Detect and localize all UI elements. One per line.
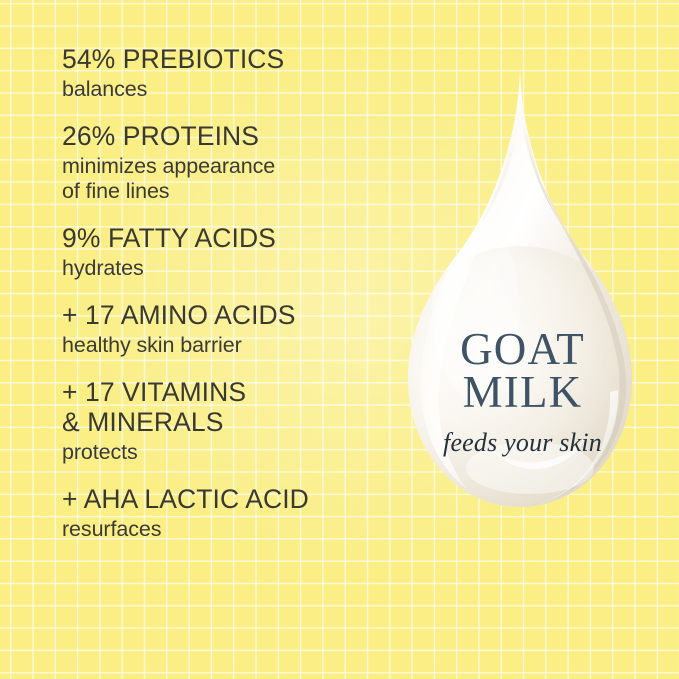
benefit-title: 26% PROTEINS [62,121,392,152]
benefits-list: 54% PREBIOTICS balances 26% PROTEINS min… [62,44,392,542]
milk-droplet: GOAT MILK feeds your skin [380,60,665,560]
benefit-subtitle: healthy skin barrier [62,333,392,358]
brand-line-2: MILK [380,371,665,414]
list-item: 26% PROTEINS minimizes appearance of fin… [62,121,392,204]
brand-tagline: feeds your skin [380,428,665,458]
list-item: 54% PREBIOTICS balances [62,44,392,102]
list-item: + 17 AMINO ACIDS healthy skin barrier [62,300,392,358]
list-item: + AHA LACTIC ACID resurfaces [62,484,392,542]
list-item: + 17 VITAMINS & MINERALS protects [62,377,392,466]
benefit-subtitle: hydrates [62,256,392,281]
benefit-subtitle: protects [62,440,392,465]
benefit-title: + 17 VITAMINS & MINERALS [62,377,392,438]
benefit-subtitle: minimizes appearance of fine lines [62,154,392,204]
benefit-subtitle: balances [62,77,392,102]
benefit-title: 9% FATTY ACIDS [62,223,392,254]
milk-droplet-icon [380,60,665,560]
list-item: 9% FATTY ACIDS hydrates [62,223,392,281]
ingredient-infographic: 54% PREBIOTICS balances 26% PROTEINS min… [0,0,679,679]
brand-name: GOAT MILK [380,328,665,414]
benefit-subtitle: resurfaces [62,517,392,542]
benefit-title: + AHA LACTIC ACID [62,484,392,515]
benefit-title: 54% PREBIOTICS [62,44,392,75]
benefit-title: + 17 AMINO ACIDS [62,300,392,331]
